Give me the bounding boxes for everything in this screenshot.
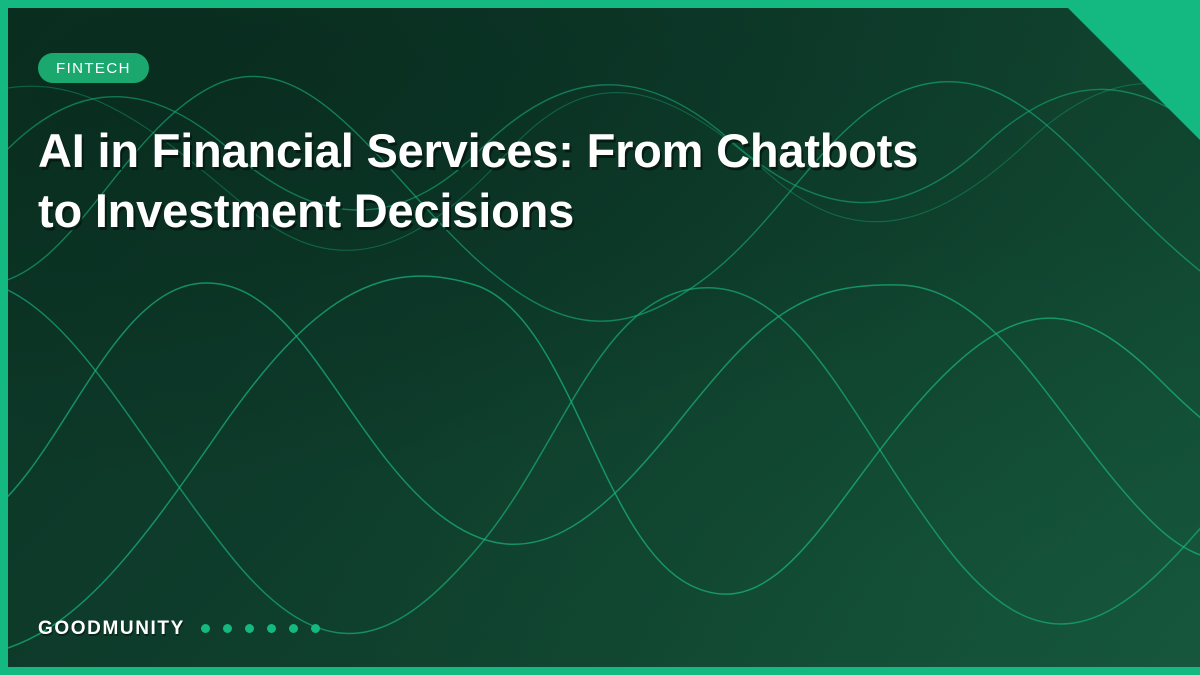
social-share-card: FINTECH AI in Financial Services: From C…	[0, 0, 1200, 675]
category-badge[interactable]: FINTECH	[38, 53, 149, 83]
page-title: AI in Financial Services: From Chatbots …	[38, 121, 1113, 241]
brand-name: GOODMUNITY	[38, 619, 185, 638]
brand-dot	[223, 624, 232, 633]
brand-dot	[201, 624, 210, 633]
brand-dot	[245, 624, 254, 633]
headline-line-1: AI in Financial Services: From Chatbots	[38, 121, 1113, 181]
brand-dot-row	[201, 624, 320, 633]
brand-footer: GOODMUNITY	[38, 619, 320, 638]
brand-dot	[311, 624, 320, 633]
card-content: FINTECH AI in Financial Services: From C…	[0, 0, 1200, 675]
brand-dot	[267, 624, 276, 633]
headline-line-2: to Investment Decisions	[38, 181, 1113, 241]
brand-dot	[289, 624, 298, 633]
